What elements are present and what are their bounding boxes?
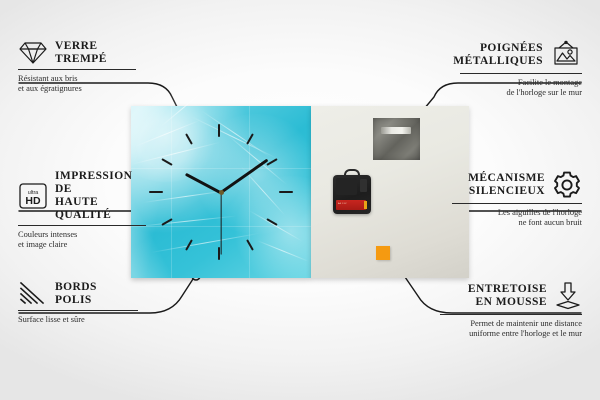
feature-header: ENTRETOISE EN MOUSSE — [440, 281, 582, 311]
feature-title: VERRE TREMPÉ — [55, 40, 107, 66]
clock-face-panel — [131, 106, 311, 278]
hanging-frame-icon — [550, 40, 582, 70]
feature-header: BORDS POLIS — [18, 281, 138, 307]
svg-text:HD: HD — [25, 195, 41, 207]
clock-tick-9 — [149, 191, 163, 193]
mechanism-detail — [360, 179, 367, 192]
feature-title: POIGNÉES MÉTALLIQUES — [453, 42, 543, 68]
foam-spacer-icon — [554, 281, 582, 311]
feature-divider — [440, 314, 582, 315]
feature-verre-trempe: VERRE TREMPÉ Résistant aux bris et aux é… — [18, 40, 136, 95]
feature-header: MÉCANISME SILENCIEUX — [452, 170, 582, 200]
feature-title: ENTRETOISE EN MOUSSE — [468, 283, 547, 309]
feature-bords-polis: BORDS POLIS Surface lisse et sûre — [18, 281, 138, 325]
feature-title: IMPRESSION DE HAUTE QUALITÉ — [55, 170, 146, 222]
feature-description: Surface lisse et sûre — [18, 315, 138, 325]
feature-divider — [18, 225, 146, 226]
feature-header: VERRE TREMPÉ — [18, 40, 136, 66]
ultra-hd-icon: ultra HD — [18, 182, 48, 210]
battery: AA 1.5V — [336, 200, 366, 210]
feature-divider — [452, 203, 582, 204]
polished-edges-icon — [18, 281, 48, 307]
feature-header: POIGNÉES MÉTALLIQUES — [460, 40, 582, 70]
feature-mecanisme-silencieux: MÉCANISME SILENCIEUX Les aiguilles de l'… — [452, 170, 582, 229]
mechanism-detail — [336, 178, 357, 195]
clock-tick-3 — [279, 191, 293, 193]
metal-hanger-plate — [373, 118, 420, 160]
feature-divider — [18, 69, 136, 70]
clock-hub — [219, 190, 224, 195]
feature-title: MÉCANISME SILENCIEUX — [468, 172, 545, 198]
feature-description: Permet de maintenir une distance uniform… — [440, 319, 582, 340]
clock-back-panel: AA 1.5V — [311, 106, 469, 278]
feature-impression-haute-qualite: ultra HD IMPRESSION DE HAUTE QUALITÉ Cou… — [18, 170, 146, 251]
hanger-slot — [381, 127, 411, 134]
foam-spacer — [376, 246, 390, 260]
feature-poignees-metalliques: POIGNÉES MÉTALLIQUES Facilite le montage… — [460, 40, 582, 99]
product-photo: AA 1.5V — [131, 106, 469, 278]
feature-title: BORDS POLIS — [55, 281, 97, 307]
feature-header: ultra HD IMPRESSION DE HAUTE QUALITÉ — [18, 170, 146, 222]
clock-tick-12 — [218, 124, 220, 137]
feature-description: Les aiguilles de l'horloge ne font aucun… — [452, 208, 582, 229]
panel-seam — [249, 106, 250, 278]
feature-description: Résistant aux bris et aux égratignures — [18, 74, 136, 95]
feature-description: Facilite le montage de l'horloge sur le … — [460, 78, 582, 99]
feature-description: Couleurs intenses et image claire — [18, 230, 146, 251]
infographic-canvas: AA 1.5V VERRE TREMPÉ Résistant aux bris … — [0, 0, 600, 400]
panel-seam — [131, 168, 311, 169]
gear-icon — [552, 170, 582, 200]
diamond-icon — [18, 40, 48, 66]
battery-tip — [364, 201, 367, 209]
feature-entretoise-en-mousse: ENTRETOISE EN MOUSSE Permet de maintenir… — [440, 281, 582, 340]
feature-divider — [18, 310, 138, 311]
clock-second-hand — [220, 193, 221, 255]
feature-divider — [460, 73, 582, 74]
quartz-mechanism-box: AA 1.5V — [333, 175, 371, 214]
